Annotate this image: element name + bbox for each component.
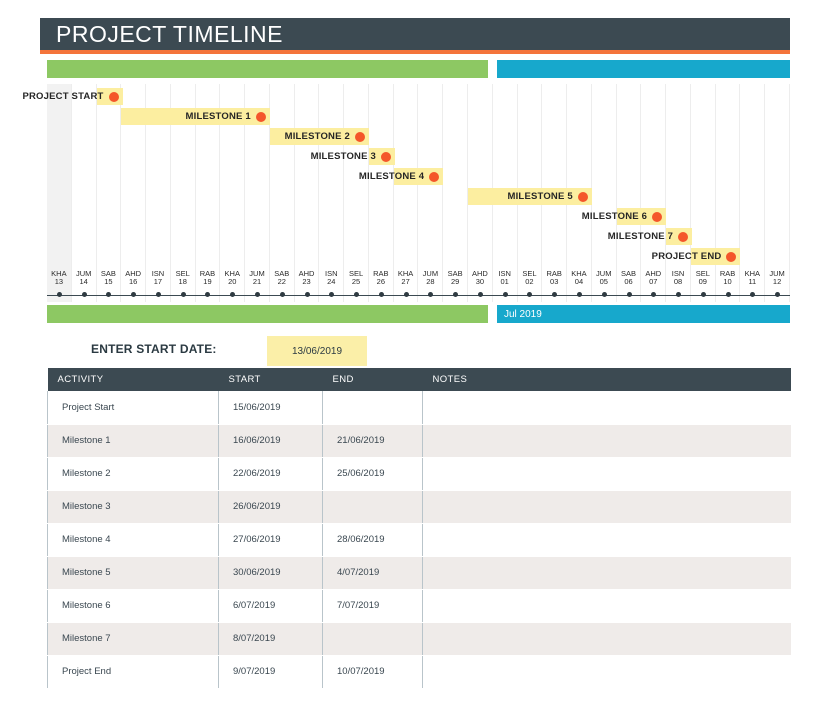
cell-activity[interactable]: Milestone 5: [48, 556, 219, 589]
footer-month-bar-1: [47, 305, 488, 323]
cell-notes[interactable]: [423, 490, 791, 523]
day-number-label: 28: [419, 278, 443, 286]
milestone-dot-icon: [652, 212, 662, 222]
gantt-bar-label: MILESTONE 4: [359, 171, 424, 182]
cell-end[interactable]: 7/07/2019: [323, 589, 423, 622]
axis-tick-dot: [577, 292, 582, 297]
axis-tick-dot: [379, 292, 384, 297]
gantt-bar[interactable]: MILESTONE 6: [617, 208, 667, 225]
cell-end[interactable]: 21/06/2019: [323, 424, 423, 457]
gantt-bar[interactable]: MILESTONE 3: [369, 148, 395, 165]
gantt-bar-label: PROJECT END: [652, 251, 722, 262]
day-number-label: 14: [72, 278, 96, 286]
gantt-task-row: MILESTONE 3: [47, 148, 790, 168]
column-header-notes[interactable]: NOTES: [423, 368, 791, 391]
day-number-label: 04: [567, 278, 591, 286]
axis-tick-dot: [181, 292, 186, 297]
milestone-dot-icon: [726, 252, 736, 262]
gantt-bar-label: MILESTONE 2: [285, 131, 350, 142]
day-number-label: 22: [270, 278, 294, 286]
cell-notes[interactable]: [423, 391, 791, 424]
milestone-dot-icon: [381, 152, 391, 162]
cell-notes[interactable]: [423, 655, 791, 688]
cell-start[interactable]: 8/07/2019: [219, 622, 323, 655]
day-number-label: 27: [394, 278, 418, 286]
gantt-bar[interactable]: PROJECT END: [691, 248, 741, 265]
day-number-label: 21: [245, 278, 269, 286]
month-bar-2: [497, 60, 790, 78]
gantt-task-row: PROJECT START: [47, 88, 790, 108]
day-number-label: 19: [196, 278, 220, 286]
gantt-bar-label: MILESTONE 7: [608, 231, 673, 242]
day-number-label: 09: [691, 278, 715, 286]
milestone-dot-icon: [429, 172, 439, 182]
milestone-dot-icon: [109, 92, 119, 102]
table-header-row: ACTIVITY START END NOTES: [48, 368, 791, 391]
cell-notes[interactable]: [423, 424, 791, 457]
title-banner: PROJECT TIMELINE: [40, 18, 790, 54]
axis-tick-dot: [255, 292, 260, 297]
cell-start[interactable]: 15/06/2019: [219, 391, 323, 424]
cell-activity[interactable]: Milestone 1: [48, 424, 219, 457]
cell-notes[interactable]: [423, 589, 791, 622]
table-row[interactable]: Project End9/07/201910/07/2019: [48, 655, 791, 688]
gantt-bar[interactable]: MILESTONE 4: [394, 168, 444, 185]
footer-month-bars: Jul 2019: [47, 305, 790, 322]
table-row[interactable]: Milestone 326/06/2019: [48, 490, 791, 523]
milestone-dot-icon: [578, 192, 588, 202]
gantt-bar[interactable]: PROJECT START: [97, 88, 123, 105]
table-row[interactable]: Project Start15/06/2019: [48, 391, 791, 424]
cell-notes[interactable]: [423, 457, 791, 490]
gantt-task-row: MILESTONE 5: [47, 188, 790, 208]
column-header-start[interactable]: START: [219, 368, 323, 391]
day-number-label: 01: [493, 278, 517, 286]
start-date-label: ENTER START DATE:: [91, 342, 217, 356]
axis-tick-dot: [602, 292, 607, 297]
day-number-label: 13: [47, 278, 71, 286]
gantt-task-row: MILESTONE 2: [47, 128, 790, 148]
day-number-label: 18: [171, 278, 195, 286]
month-header-bars: [47, 60, 790, 78]
day-number-label: 07: [641, 278, 665, 286]
gantt-task-row: MILESTONE 4: [47, 168, 790, 188]
cell-activity[interactable]: Milestone 3: [48, 490, 219, 523]
axis-tick-dot: [726, 292, 731, 297]
page-title: PROJECT TIMELINE: [40, 21, 283, 48]
gantt-bar-label: PROJECT START: [22, 91, 103, 102]
cell-activity[interactable]: Milestone 7: [48, 622, 219, 655]
activity-table-body: Project Start15/06/2019Milestone 116/06/…: [48, 391, 791, 688]
day-number-label: 17: [146, 278, 170, 286]
start-date-row: ENTER START DATE: 13/06/2019: [47, 336, 790, 366]
day-number-label: 20: [220, 278, 244, 286]
gantt-task-row: MILESTONE 1: [47, 108, 790, 128]
axis-tick-dot: [82, 292, 87, 297]
day-number-label: 11: [740, 278, 764, 286]
month-bar-1: [47, 60, 488, 78]
gantt-bar[interactable]: MILESTONE 1: [121, 108, 270, 125]
cell-end[interactable]: [323, 490, 423, 523]
gantt-bar-label: MILESTONE 3: [311, 151, 376, 162]
day-number-label: 02: [518, 278, 542, 286]
axis-tick-dot: [305, 292, 310, 297]
axis-tick-dot: [503, 292, 508, 297]
day-number-label: 23: [295, 278, 319, 286]
cell-activity[interactable]: Project End: [48, 655, 219, 688]
cell-end[interactable]: [323, 391, 423, 424]
column-header-end[interactable]: END: [323, 368, 423, 391]
cell-end[interactable]: [323, 622, 423, 655]
gantt-bar[interactable]: MILESTONE 2: [270, 128, 369, 145]
gantt-chart-plot: PROJECT STARTMILESTONE 1MILESTONE 2MILES…: [47, 84, 790, 266]
gantt-bar-label: MILESTONE 5: [507, 191, 572, 202]
cell-activity[interactable]: Project Start: [48, 391, 219, 424]
start-date-input[interactable]: 13/06/2019: [267, 336, 367, 366]
cell-start[interactable]: 26/06/2019: [219, 490, 323, 523]
cell-activity[interactable]: Milestone 2: [48, 457, 219, 490]
day-number-label: 12: [765, 278, 789, 286]
axis-tick-dot: [701, 292, 706, 297]
activity-table: ACTIVITY START END NOTES Project Start15…: [47, 368, 791, 689]
gantt-bar[interactable]: MILESTONE 7: [666, 228, 692, 245]
axis-tick-dot: [57, 292, 62, 297]
gantt-task-row: MILESTONE 6: [47, 208, 790, 228]
table-row[interactable]: Milestone 66/07/20197/07/2019: [48, 589, 791, 622]
cell-start[interactable]: 9/07/2019: [219, 655, 323, 688]
milestone-dot-icon: [678, 232, 688, 242]
cell-notes[interactable]: [423, 556, 791, 589]
cell-end[interactable]: 25/06/2019: [323, 457, 423, 490]
gantt-task-row: MILESTONE 7: [47, 228, 790, 248]
day-number-label: 15: [97, 278, 121, 286]
table-row[interactable]: Milestone 530/06/20194/07/2019: [48, 556, 791, 589]
axis-tick-dot: [156, 292, 161, 297]
milestone-dot-icon: [256, 112, 266, 122]
day-number-label: 24: [319, 278, 343, 286]
cell-end[interactable]: 10/07/2019: [323, 655, 423, 688]
cell-start[interactable]: 30/06/2019: [219, 556, 323, 589]
day-number-label: 03: [542, 278, 566, 286]
day-number-label: 08: [666, 278, 690, 286]
axis-tick-dot: [478, 292, 483, 297]
cell-activity[interactable]: Milestone 6: [48, 589, 219, 622]
cell-start[interactable]: 6/07/2019: [219, 589, 323, 622]
day-number-label: 26: [369, 278, 393, 286]
cell-start[interactable]: 27/06/2019: [219, 523, 323, 556]
day-number-label: 16: [121, 278, 145, 286]
cell-notes[interactable]: [423, 622, 791, 655]
day-number-label: 05: [592, 278, 616, 286]
table-row[interactable]: Milestone 78/07/2019: [48, 622, 791, 655]
day-number-label: 25: [344, 278, 368, 286]
day-number-label: 10: [716, 278, 740, 286]
gantt-bar-label: MILESTONE 6: [582, 211, 647, 222]
day-number-label: 06: [617, 278, 641, 286]
gantt-task-row: PROJECT END: [47, 248, 790, 268]
table-row[interactable]: Milestone 427/06/201928/06/2019: [48, 523, 791, 556]
day-number-label: 29: [443, 278, 467, 286]
cell-activity[interactable]: Milestone 4: [48, 523, 219, 556]
table-row[interactable]: Milestone 222/06/201925/06/2019: [48, 457, 791, 490]
cell-end[interactable]: 4/07/2019: [323, 556, 423, 589]
table-row[interactable]: Milestone 116/06/201921/06/2019: [48, 424, 791, 457]
axis-tick-dot: [404, 292, 409, 297]
gantt-bar[interactable]: MILESTONE 5: [468, 188, 592, 205]
axis-tick-dot: [280, 292, 285, 297]
axis-tick-dot: [627, 292, 632, 297]
cell-start[interactable]: 22/06/2019: [219, 457, 323, 490]
column-header-activity[interactable]: ACTIVITY: [48, 368, 219, 391]
footer-month-bar-2: Jul 2019: [497, 305, 790, 323]
cell-notes[interactable]: [423, 523, 791, 556]
cell-start[interactable]: 16/06/2019: [219, 424, 323, 457]
gantt-bar-label: MILESTONE 1: [186, 111, 251, 122]
day-number-label: 30: [468, 278, 492, 286]
milestone-dot-icon: [355, 132, 365, 142]
cell-end[interactable]: 28/06/2019: [323, 523, 423, 556]
